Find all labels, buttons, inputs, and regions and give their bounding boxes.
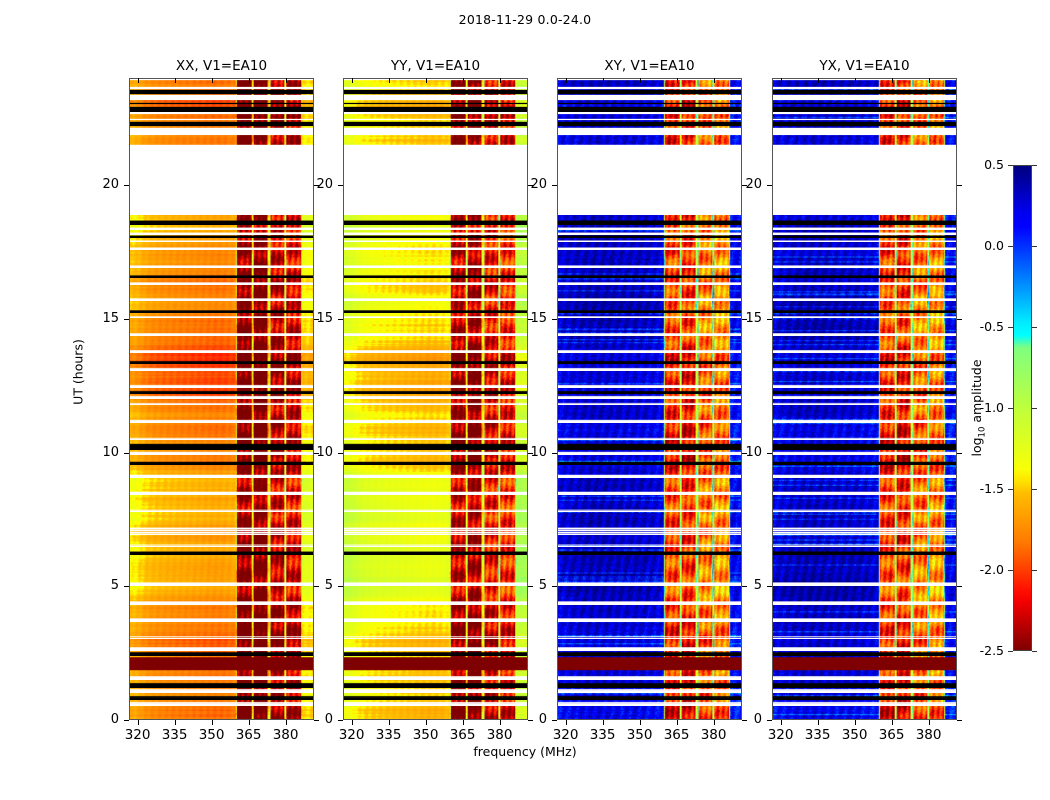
zero-amplitude-row-band [130, 276, 313, 278]
zero-amplitude-row-band [344, 446, 527, 450]
flagged-row-band [558, 211, 741, 212]
zero-amplitude-row-band [558, 221, 741, 225]
flagged-row-band [130, 128, 313, 136]
flagged-row-band [773, 397, 956, 399]
flagged-row-band [773, 404, 956, 406]
flagged-row-band [130, 119, 313, 121]
flagged-row-band [344, 128, 527, 136]
x-tick-label: 335 [369, 727, 409, 743]
flagged-row-band [130, 678, 313, 680]
flagged-row-band [344, 228, 527, 230]
flagged-row-band [773, 678, 956, 680]
flagged-row-band [773, 283, 956, 285]
flagged-row-band [344, 95, 527, 100]
flagged-row-band [773, 386, 956, 388]
y-axis-label: UT (hours) [71, 339, 86, 405]
flagged-row-band [130, 283, 313, 285]
flagged-row-band [773, 638, 956, 640]
flagged-row-band [344, 453, 527, 455]
zero-amplitude-row-band [558, 463, 741, 465]
flagged-row-band [130, 334, 313, 336]
y-tick-label: 5 [507, 578, 547, 593]
y-tick-label: 0 [722, 712, 762, 727]
flagged-row-band [344, 248, 527, 250]
zero-amplitude-row-band [344, 698, 527, 700]
colorbar-label: log10 amplitude [969, 359, 988, 456]
flagged-row-band [344, 493, 527, 495]
flagged-row-band [558, 241, 741, 243]
flagged-row-band [773, 453, 956, 455]
flagged-row-band [558, 584, 741, 586]
flagged-row-band [558, 299, 741, 301]
flagged-row-band [773, 493, 956, 495]
flagged-row-band [344, 704, 527, 706]
flagged-row-band [130, 211, 313, 212]
flagged-row-band [130, 233, 313, 235]
zero-amplitude-row-band [130, 654, 313, 656]
flagged-row-band [558, 638, 741, 640]
y-tick-label: 5 [722, 578, 762, 593]
flagged-row-band [773, 649, 956, 651]
flagged-row-band [344, 476, 527, 478]
zero-amplitude-row-band [773, 103, 956, 105]
flagged-row-band [344, 397, 527, 399]
flagged-row-band [344, 620, 527, 622]
zero-amplitude-row-band [558, 698, 741, 700]
x-tick-label: 350 [835, 727, 875, 743]
flagged-row-band [558, 603, 741, 605]
zero-amplitude-row-band [773, 463, 956, 465]
zero-amplitude-row-band [773, 107, 956, 112]
heatmap-panel-yx[interactable] [772, 78, 957, 720]
zero-amplitude-row-band [558, 362, 741, 364]
flagged-row-band [558, 145, 741, 215]
panel-title-xx: XX, V1=EA10 [129, 58, 314, 74]
zero-amplitude-row-band [773, 553, 956, 555]
x-tick-label: 320 [546, 727, 586, 743]
flagged-row-band [773, 511, 956, 513]
flagged-row-band [130, 511, 313, 513]
x-tick-label: 350 [406, 727, 446, 743]
flagged-row-band [773, 228, 956, 230]
flagged-row-band [773, 299, 956, 301]
y-tick-label: 20 [507, 177, 547, 192]
flagged-row-band [773, 145, 956, 215]
zero-amplitude-row-band [558, 276, 741, 278]
flagged-row-band [130, 248, 313, 250]
x-tick-label: 335 [583, 727, 623, 743]
flagged-row-band [130, 584, 313, 586]
flagged-row-band [773, 266, 956, 268]
x-tick-label: 320 [332, 727, 372, 743]
flagged-row-band [558, 493, 741, 495]
flagged-row-band [558, 404, 741, 406]
flagged-row-band [558, 128, 741, 136]
flagged-row-band [130, 369, 313, 371]
zero-amplitude-row-band [130, 685, 313, 688]
colorbar-tick-label: -1.5 [964, 481, 1004, 496]
flagged-row-band [773, 530, 956, 532]
zero-amplitude-row-band [344, 362, 527, 364]
flagged-row-band [773, 317, 956, 319]
heatmap-panel-xy[interactable] [557, 78, 742, 720]
y-tick-label: 5 [293, 578, 333, 593]
x-tick-label: 350 [620, 727, 660, 743]
flagged-row-band [773, 95, 956, 100]
flagged-row-band [344, 691, 527, 693]
flagged-row-band [558, 649, 741, 651]
zero-amplitude-row-band [344, 463, 527, 465]
zero-amplitude-row-band [344, 236, 527, 238]
zero-amplitude-row-band [773, 698, 956, 700]
x-tick-label: 365 [229, 727, 269, 743]
x-tick-label: 365 [872, 727, 912, 743]
zero-amplitude-row-band [130, 392, 313, 394]
flagged-row-band [130, 704, 313, 706]
flagged-row-band [773, 476, 956, 478]
flagged-row-band [130, 317, 313, 319]
flagged-row-band [344, 334, 527, 336]
zero-amplitude-row-band [344, 392, 527, 394]
flagged-row-band [130, 397, 313, 399]
y-tick-label: 20 [722, 177, 762, 192]
zero-amplitude-row-band [130, 446, 313, 450]
flagged-row-band [130, 620, 313, 622]
flagged-row-band [558, 546, 741, 548]
flagged-row-band [558, 620, 741, 622]
zero-amplitude-row-band [344, 553, 527, 555]
zero-amplitude-row-band [344, 90, 527, 94]
flagged-row-band [344, 369, 527, 371]
flagged-row-band [130, 145, 313, 215]
flagged-row-band [344, 299, 527, 301]
flagged-row-band [130, 404, 313, 406]
flagged-row-band [344, 678, 527, 680]
flagged-row-band [558, 386, 741, 388]
zero-amplitude-row-band [558, 654, 741, 656]
flagged-row-band [773, 119, 956, 121]
zero-amplitude-row-band [773, 221, 956, 225]
flagged-row-band [558, 678, 741, 680]
flagged-row-band [344, 351, 527, 353]
flagged-row-band [130, 453, 313, 455]
zero-amplitude-row-band [130, 103, 313, 105]
flagged-row-band [344, 283, 527, 285]
flagged-row-band [558, 704, 741, 706]
y-tick-label: 20 [293, 177, 333, 192]
zero-amplitude-row-band [130, 463, 313, 465]
flagged-row-band [773, 620, 956, 622]
zero-amplitude-row-band [344, 122, 527, 126]
zero-amplitude-row-band [344, 685, 527, 688]
zero-amplitude-row-band [344, 311, 527, 313]
flagged-row-band [558, 530, 741, 532]
flagged-row-band [558, 691, 741, 693]
flagged-row-band [773, 112, 956, 114]
x-tick-label: 320 [118, 727, 158, 743]
flagged-row-band [773, 534, 956, 536]
zero-amplitude-row-band [773, 122, 956, 126]
flagged-row-band [773, 334, 956, 336]
flagged-row-band [773, 351, 956, 353]
zero-amplitude-row-band [773, 276, 956, 278]
flagged-row-band [344, 404, 527, 406]
flagged-row-band [773, 439, 956, 441]
x-tick-label: 380 [480, 727, 520, 743]
y-tick-label: 15 [722, 311, 762, 326]
flagged-row-band [344, 638, 527, 640]
flagged-row-band [130, 386, 313, 388]
zero-amplitude-row-band [558, 103, 741, 105]
colorbar[interactable] [1013, 165, 1032, 651]
x-tick-label: 320 [761, 727, 801, 743]
zero-amplitude-row-band [773, 392, 956, 394]
zero-amplitude-row-band [130, 311, 313, 313]
flagged-row-band [130, 112, 313, 114]
flagged-row-band [558, 228, 741, 230]
flagged-row-band [558, 112, 741, 114]
flagged-row-band [773, 421, 956, 423]
zero-amplitude-row-band [558, 392, 741, 394]
flagged-row-band [130, 476, 313, 478]
zero-amplitude-row-band [130, 698, 313, 700]
colorbar-tick-label: 0.0 [964, 238, 1004, 253]
zero-amplitude-row-band [773, 311, 956, 313]
flagged-row-band [344, 145, 527, 215]
flagged-row-band [344, 211, 527, 212]
flagged-row-band [558, 248, 741, 250]
zero-amplitude-row-band [130, 221, 313, 225]
x-axis-label: frequency (MHz) [0, 744, 1050, 759]
flagged-row-band [344, 534, 527, 536]
flagged-row-band [344, 266, 527, 268]
flagged-row-band [130, 546, 313, 548]
flagged-row-band [773, 691, 956, 693]
heatmap-panel-xx[interactable] [129, 78, 314, 720]
y-tick-label: 0 [507, 712, 547, 727]
y-tick-label: 15 [293, 311, 333, 326]
zero-amplitude-row-band [130, 107, 313, 112]
x-tick-label: 380 [266, 727, 306, 743]
zero-amplitude-row-band [344, 221, 527, 225]
colorbar-tick-label: 0.5 [964, 157, 1004, 172]
heatmap-panel-yy[interactable] [343, 78, 528, 720]
x-tick-label: 365 [657, 727, 697, 743]
y-tick-label: 15 [79, 311, 119, 326]
flagged-row-band [344, 584, 527, 586]
zero-amplitude-row-band [130, 122, 313, 126]
y-tick-label: 10 [293, 445, 333, 460]
flagged-row-band [130, 95, 313, 100]
flagged-row-band [344, 530, 527, 532]
flagged-row-band [344, 421, 527, 423]
flagged-row-band [130, 299, 313, 301]
flagged-row-band [344, 511, 527, 513]
flagged-row-band [558, 511, 741, 513]
zero-amplitude-row-band [130, 553, 313, 555]
zero-amplitude-row-band [344, 654, 527, 656]
flagged-row-band [558, 369, 741, 371]
flagged-row-band [773, 704, 956, 706]
zero-amplitude-row-band [130, 90, 313, 94]
zero-amplitude-row-band [558, 122, 741, 126]
flagged-row-band [344, 546, 527, 548]
x-tick-label: 365 [443, 727, 483, 743]
x-tick-label: 335 [798, 727, 838, 743]
zero-amplitude-row-band [773, 446, 956, 450]
y-tick-label: 0 [293, 712, 333, 727]
zero-amplitude-row-band [773, 90, 956, 94]
figure-suptitle: 2018-11-29 0.0-24.0 [0, 12, 1050, 27]
flagged-row-band [773, 128, 956, 136]
x-tick-label: 380 [694, 727, 734, 743]
flagged-row-band [130, 266, 313, 268]
flagged-row-band [773, 546, 956, 548]
colorbar-tick-label: -2.0 [964, 562, 1004, 577]
x-tick-label: 380 [909, 727, 949, 743]
flagged-row-band [344, 241, 527, 243]
flagged-row-band [558, 283, 741, 285]
x-tick-label: 350 [192, 727, 232, 743]
flagged-row-band [344, 603, 527, 605]
flagged-row-band [558, 453, 741, 455]
flagged-row-band [130, 691, 313, 693]
flagged-row-band [558, 534, 741, 536]
flagged-row-band [344, 233, 527, 235]
y-tick-label: 20 [79, 177, 119, 192]
flagged-row-band [773, 584, 956, 586]
zero-amplitude-row-band [773, 685, 956, 688]
flagged-row-band [773, 369, 956, 371]
flagged-row-band [130, 241, 313, 243]
panel-title-yx: YX, V1=EA10 [772, 58, 957, 74]
zero-amplitude-row-band [558, 107, 741, 112]
flagged-row-band [344, 439, 527, 441]
zero-amplitude-row-band [773, 654, 956, 656]
flagged-row-band [558, 439, 741, 441]
flagged-row-band [130, 638, 313, 640]
flagged-row-band [773, 248, 956, 250]
zero-amplitude-row-band [344, 103, 527, 105]
flagged-row-band [130, 603, 313, 605]
flagged-row-band [130, 228, 313, 230]
zero-amplitude-row-band [558, 236, 741, 238]
zero-amplitude-row-band [558, 685, 741, 688]
zero-amplitude-row-band [344, 107, 527, 112]
x-tick-label: 335 [155, 727, 195, 743]
flagged-row-band [773, 241, 956, 243]
y-tick-label: 10 [507, 445, 547, 460]
zero-amplitude-row-band [558, 311, 741, 313]
flagged-row-band [558, 119, 741, 121]
zero-amplitude-row-band [773, 236, 956, 238]
y-tick-label: 10 [722, 445, 762, 460]
colorbar-gradient [1014, 166, 1031, 650]
flagged-row-band [130, 421, 313, 423]
flagged-row-band [130, 649, 313, 651]
panel-title-xy: XY, V1=EA10 [557, 58, 742, 74]
zero-amplitude-row-band [773, 362, 956, 364]
flagged-row-band [130, 530, 313, 532]
flagged-row-band [344, 317, 527, 319]
flagged-row-band [558, 351, 741, 353]
y-tick-label: 15 [507, 311, 547, 326]
flagged-row-band [773, 603, 956, 605]
flagged-row-band [130, 439, 313, 441]
flagged-row-band [558, 233, 741, 235]
flagged-row-band [558, 476, 741, 478]
flagged-row-band [344, 649, 527, 651]
flagged-row-band [130, 534, 313, 536]
zero-amplitude-row-band [558, 90, 741, 94]
flagged-row-band [558, 397, 741, 399]
colorbar-tick-label: -2.5 [964, 643, 1004, 658]
flagged-row-band [773, 233, 956, 235]
flagged-row-band [344, 112, 527, 114]
zero-amplitude-row-band [344, 276, 527, 278]
panel-title-yy: YY, V1=EA10 [343, 58, 528, 74]
zero-amplitude-row-band [558, 553, 741, 555]
colorbar-tick-label: -0.5 [964, 319, 1004, 334]
y-tick-label: 5 [79, 578, 119, 593]
y-tick-label: 0 [79, 712, 119, 727]
zero-amplitude-row-band [130, 236, 313, 238]
flagged-row-band [130, 493, 313, 495]
flagged-row-band [344, 386, 527, 388]
y-tick-label: 10 [79, 445, 119, 460]
flagged-row-band [558, 95, 741, 100]
flagged-row-band [558, 334, 741, 336]
flagged-row-band [558, 317, 741, 319]
flagged-row-band [130, 351, 313, 353]
zero-amplitude-row-band [130, 362, 313, 364]
zero-amplitude-row-band [558, 446, 741, 450]
flagged-row-band [558, 266, 741, 268]
flagged-row-band [344, 119, 527, 121]
flagged-row-band [773, 211, 956, 212]
flagged-row-band [558, 421, 741, 423]
